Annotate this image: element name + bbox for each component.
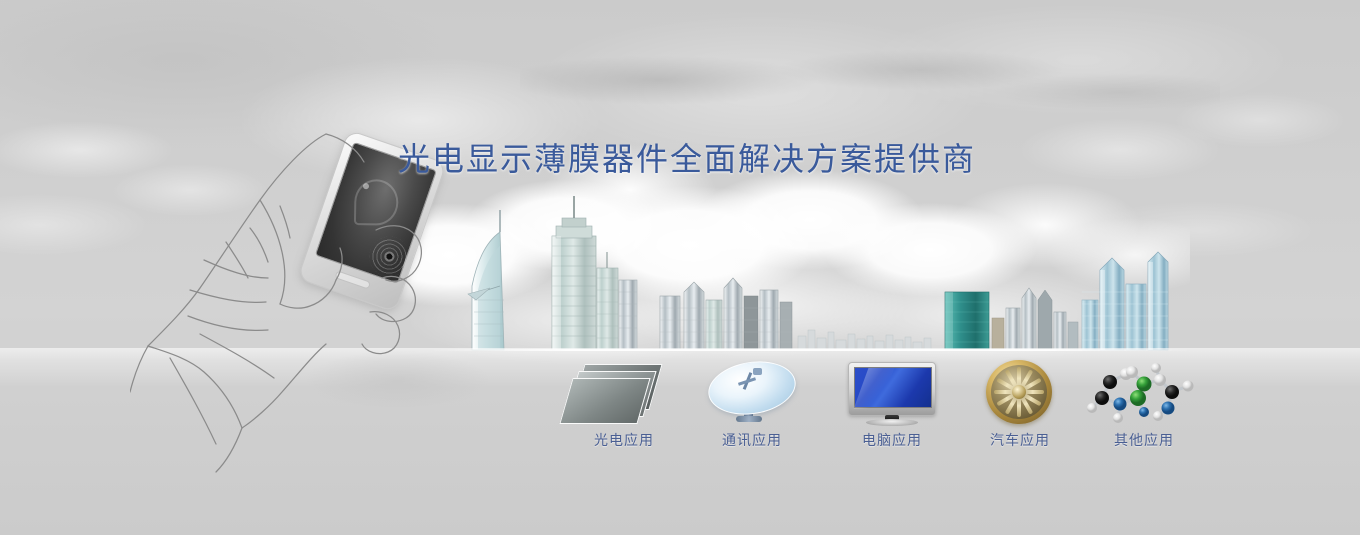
glass-panel-front (559, 378, 650, 424)
cloud-dark-streak (520, 30, 1220, 140)
category-item-computer[interactable]: 电脑应用 (828, 358, 956, 450)
cloud-bank (330, 70, 1190, 370)
alloy-wheel-icon (956, 358, 1084, 424)
satellite-dish-icon (688, 358, 816, 424)
screen-ripple-core (383, 250, 396, 263)
screen-dot (362, 182, 370, 190)
wheel-rim (991, 365, 1047, 419)
building-teal-block (945, 292, 989, 350)
glass-panels-icon (560, 358, 688, 424)
application-category-row: 光电应用 通讯应用 (560, 358, 1200, 468)
arm-shadow (305, 350, 490, 410)
phone-home-bar (334, 270, 371, 289)
category-item-communication[interactable]: 通讯应用 (688, 358, 816, 450)
dish-bowl (704, 355, 799, 420)
horizon-line (430, 349, 1190, 351)
building-mid-tower-b (619, 280, 637, 350)
molecule-atoms (1087, 363, 1194, 423)
wheel-tire (986, 360, 1052, 424)
screen-ripple-graphic (364, 231, 415, 282)
molecule-svg (1080, 358, 1208, 424)
category-label: 光电应用 (560, 432, 688, 450)
category-label: 其他应用 (1080, 432, 1208, 450)
page-title-text: 光电显示薄膜器件全面解决方案提供商 (384, 139, 976, 179)
molecule-icon (1080, 358, 1208, 424)
monitor-bezel (848, 362, 936, 416)
category-label: 电脑应用 (828, 432, 956, 450)
category-item-other[interactable]: 其他应用 (1080, 358, 1208, 450)
building-tall-cylinder-tower (552, 196, 596, 350)
building-mid-tower-a (597, 252, 618, 350)
wheel-hub (1012, 385, 1026, 399)
building-low-city-strip (798, 330, 931, 350)
sky-haze (0, 0, 1360, 260)
building-glass-cluster-left (660, 278, 792, 350)
category-item-optoelectronic[interactable]: 光电应用 (560, 358, 688, 450)
page-title: 光电显示薄膜器件全面解决方案提供商 (0, 139, 1360, 179)
screen-swirl-graphic (354, 179, 399, 226)
monitor-base (866, 419, 918, 426)
dish-base (736, 416, 762, 422)
building-silver-spires (992, 288, 1078, 350)
building-blue-glass-tower (1082, 252, 1168, 350)
monitor-screen (854, 367, 932, 408)
dish-lnb (753, 368, 762, 375)
building-sail-tower (468, 210, 504, 350)
computer-monitor-icon (828, 358, 956, 424)
category-item-automotive[interactable]: 汽车应用 (956, 358, 1084, 450)
screen-glint (854, 368, 895, 409)
city-skyline (0, 0, 1360, 360)
hero-banner: 光电显示薄膜器件全面解决方案提供商 光电应用 通讯应用 (0, 0, 1360, 535)
category-label: 汽车应用 (956, 432, 1084, 450)
category-label: 通讯应用 (688, 432, 816, 450)
hand-line-art (130, 134, 421, 472)
